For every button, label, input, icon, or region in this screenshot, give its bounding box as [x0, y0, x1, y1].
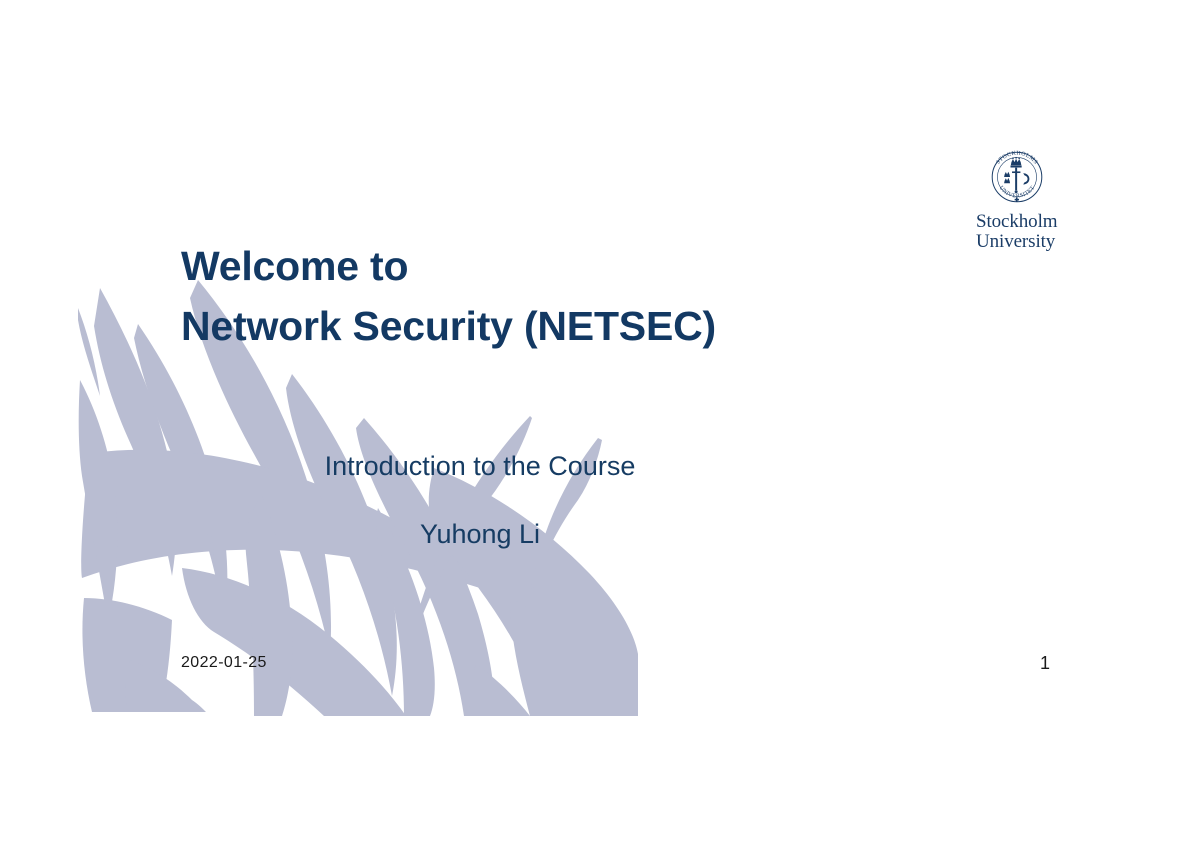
title-line-1: Welcome to [181, 236, 716, 296]
title-line-2: Network Security (NETSEC) [181, 296, 716, 356]
university-wordmark: Stockholm University [976, 212, 1082, 251]
wordmark-line-1: Stockholm [976, 212, 1082, 232]
subtitle: Introduction to the Course [180, 445, 780, 487]
page-number: 1 [1040, 653, 1050, 674]
stockholm-university-logo: STOCKHOLMS UNIVERSITET [976, 146, 1082, 251]
slide-date: 2022-01-25 [181, 654, 267, 672]
wordmark-line-2: University [976, 232, 1082, 252]
title-slide: Welcome to Network Security (NETSEC) Int… [0, 0, 1200, 849]
university-seal-icon: STOCKHOLMS UNIVERSITET [986, 146, 1048, 208]
author-name: Yuhong Li [180, 513, 780, 555]
subtitle-group: Introduction to the Course Yuhong Li [180, 445, 780, 555]
page-title: Welcome to Network Security (NETSEC) [181, 236, 716, 356]
